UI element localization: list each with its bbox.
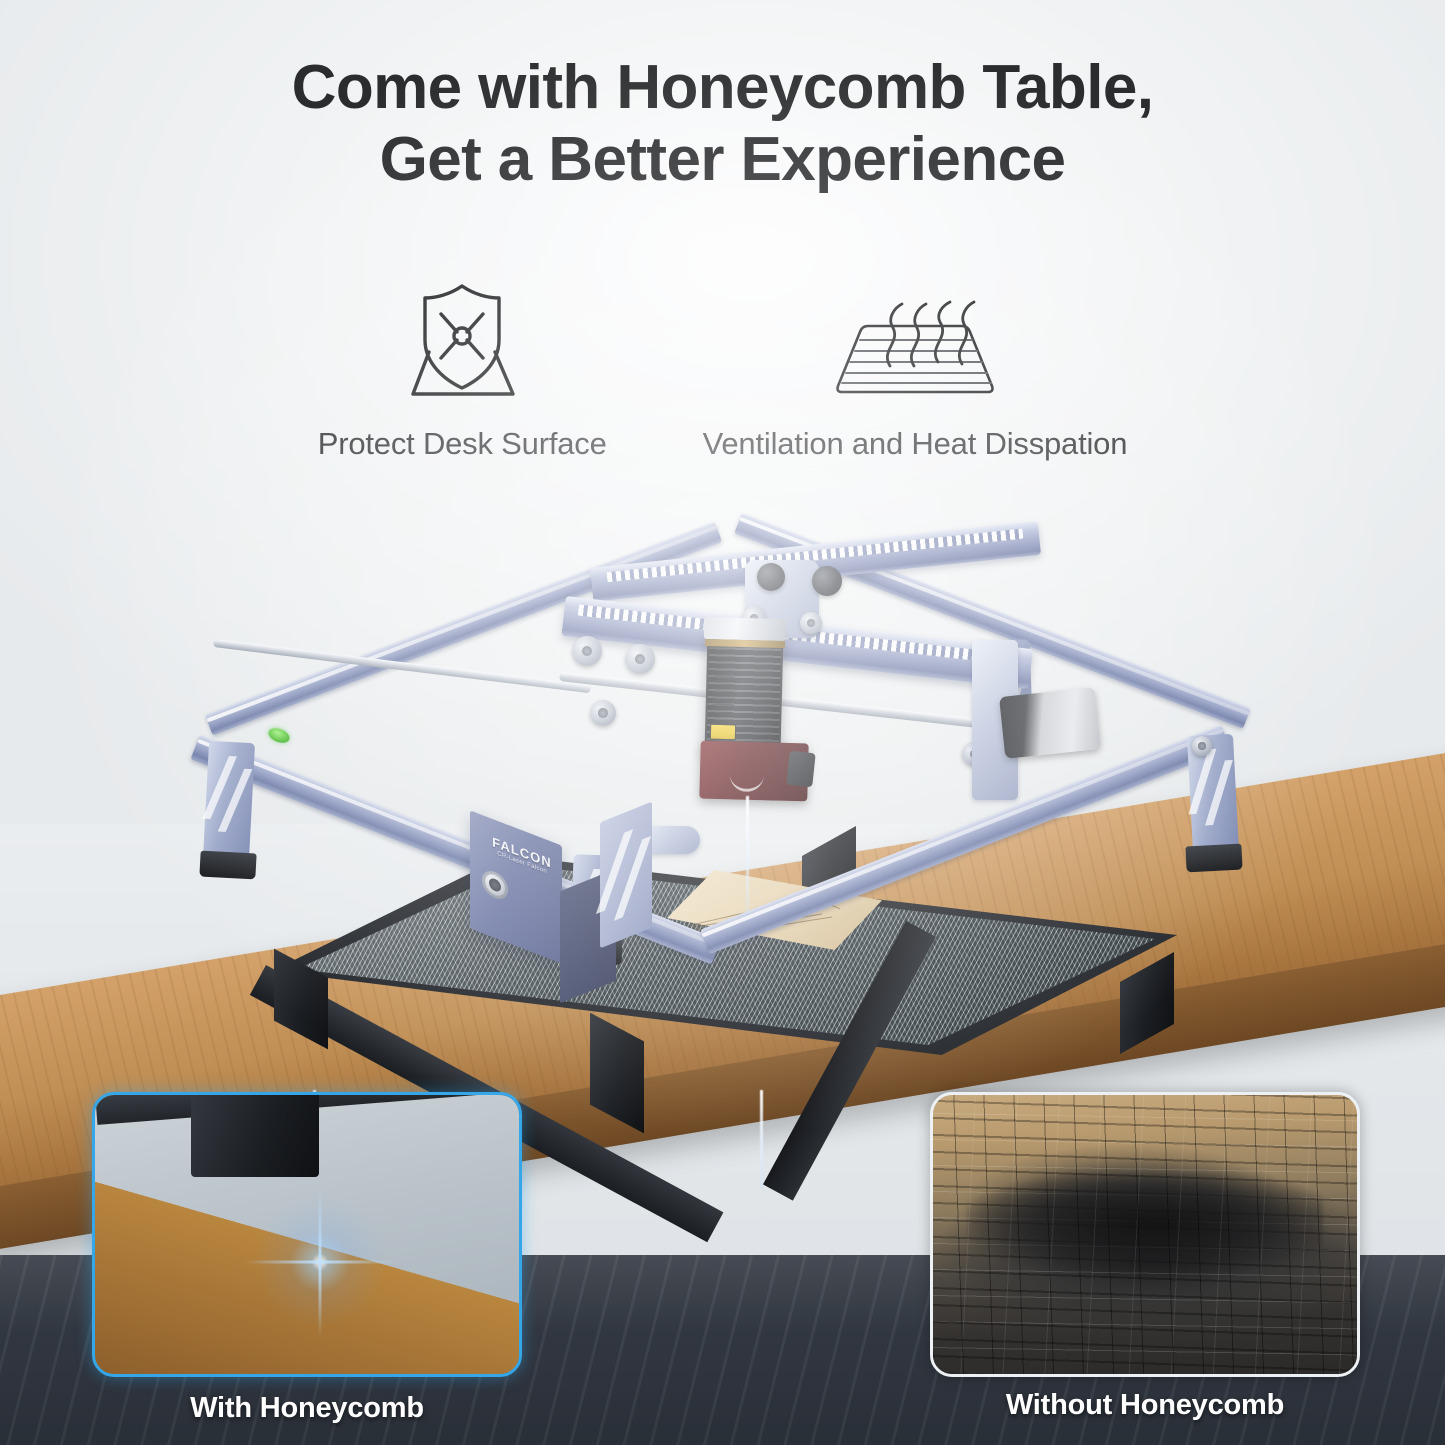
frame-foot-left (199, 851, 256, 880)
frame-foot-right (1185, 844, 1242, 873)
comparison-caption-with: With Honeycomb (92, 1392, 522, 1425)
laser-module-cap (704, 617, 787, 641)
product-feature-image: Come with Honeycomb Table, Get a Better … (0, 0, 1445, 1445)
belt-pulley-a (757, 563, 785, 591)
comparison-caption-without: Without Honeycomb (930, 1389, 1360, 1422)
controller-mount-bracket (600, 801, 652, 948)
honeycomb-foot-right (1120, 952, 1174, 1054)
focus-adjust-knob[interactable] (786, 751, 815, 788)
v-roller-left-lower (625, 644, 655, 674)
v-roller-left-bottom (590, 700, 616, 726)
frame-leg-left (203, 741, 255, 861)
laser-spec-label (711, 676, 734, 719)
v-roller-left-upper (572, 636, 602, 666)
stepper-motor (999, 687, 1101, 759)
laser-beam-main (746, 796, 749, 914)
guide-rod-main (559, 672, 1017, 732)
laser-warning-label-icon (710, 724, 736, 741)
power-indicator-icon (266, 725, 291, 745)
comparison-panel-without-honeycomb (930, 1092, 1360, 1377)
honeycomb-table (272, 855, 1177, 1090)
comparison-panel-with-honeycomb (92, 1092, 522, 1377)
wood-crack-texture (933, 1095, 1357, 1374)
honeycomb-foot-silhouette (191, 1092, 319, 1177)
laser-beam-right-panel (760, 1090, 763, 1190)
v-roller-b (800, 612, 822, 634)
belt-pulley-b (812, 566, 842, 596)
v-roller-far-right (1192, 736, 1212, 756)
